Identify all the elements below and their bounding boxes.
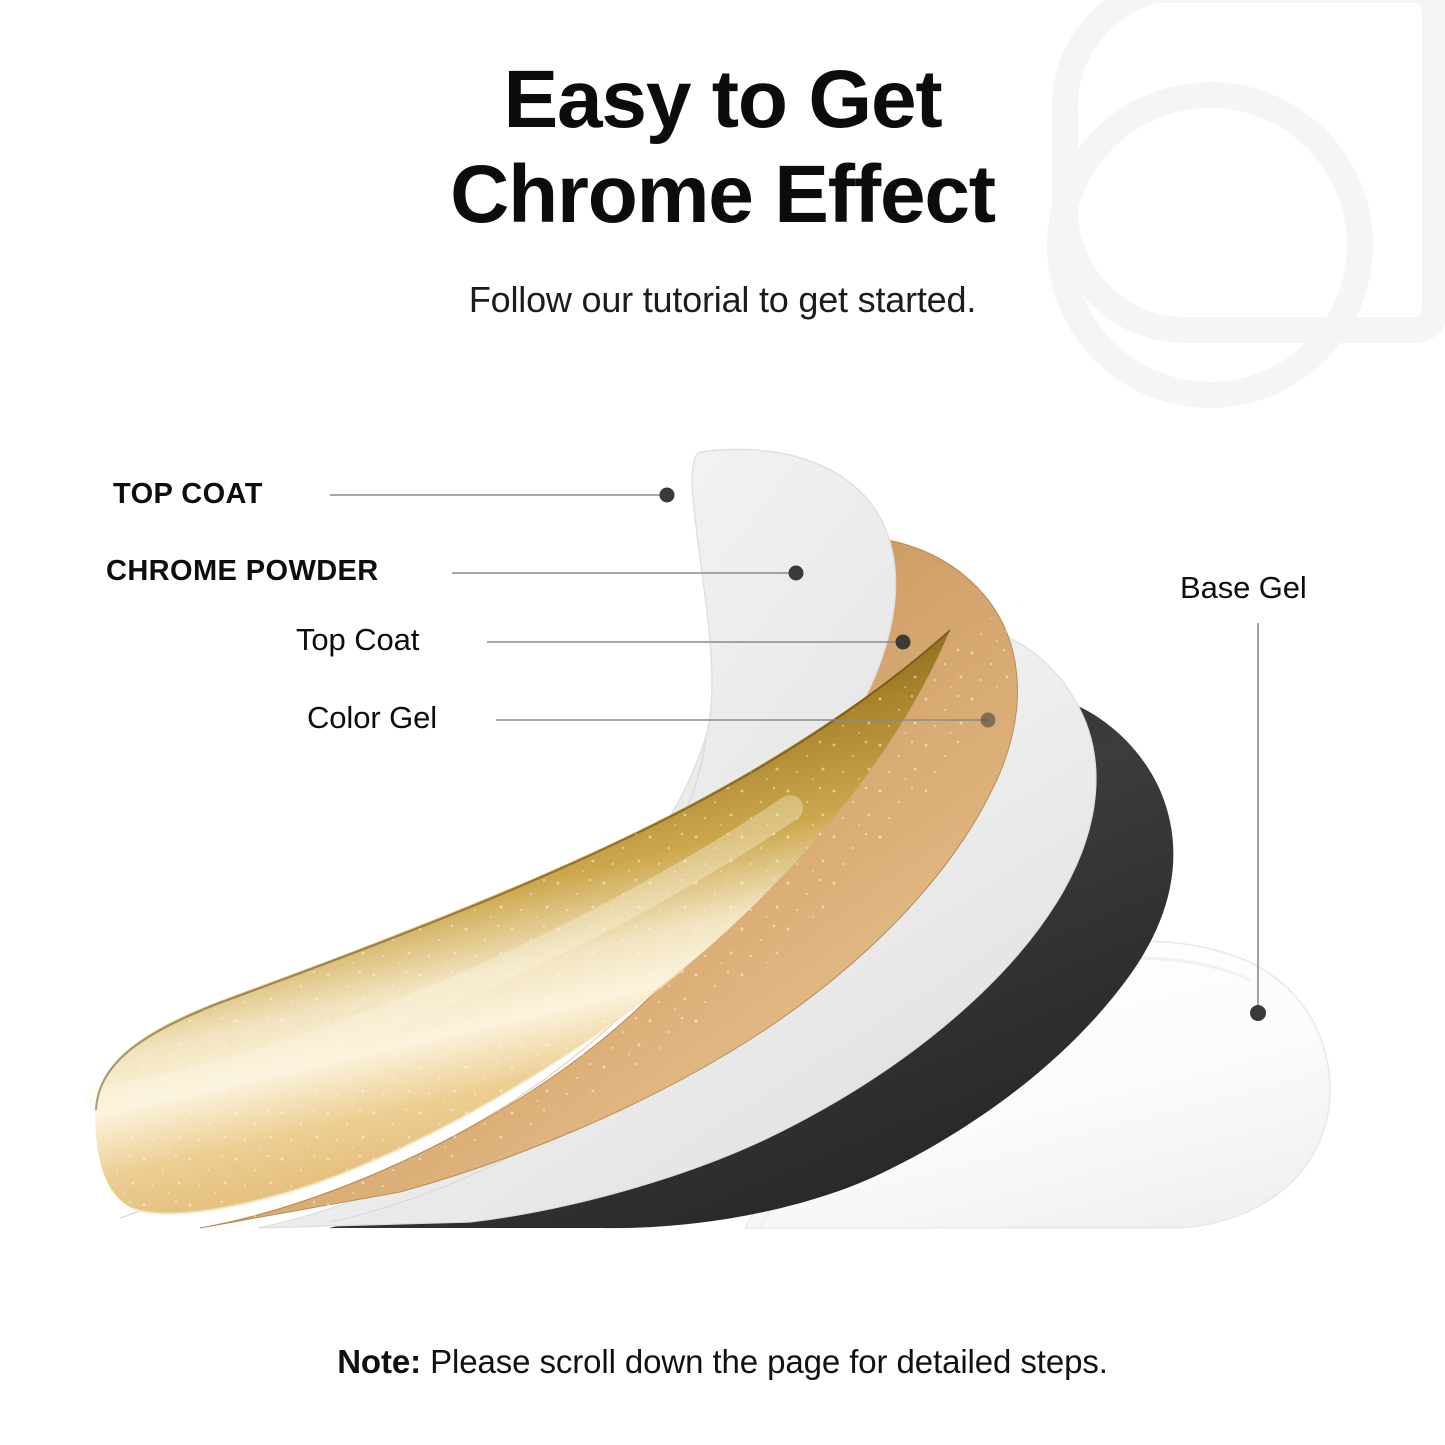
footer-note: Note: Please scroll down the page for de… <box>0 1343 1445 1381</box>
callout-label-top-coat: Top Coat <box>296 622 419 658</box>
callout-label-chrome-powder: CHROME POWDER <box>106 555 379 588</box>
callout-dot-top-coat-bold <box>660 488 675 503</box>
footer-note-text: Please scroll down the page for detailed… <box>421 1343 1108 1380</box>
infographic-page: Easy to Get Chrome Effect Follow our tut… <box>0 0 1445 1445</box>
callout-label-color-gel: Color Gel <box>307 700 437 736</box>
footer-note-prefix: Note: <box>337 1343 421 1380</box>
callout-label-base-gel: Base Gel <box>1180 570 1307 606</box>
layer-diagram <box>0 0 1445 1445</box>
callout-dot-base-gel <box>1250 1005 1266 1021</box>
callout-dot-top-coat <box>896 635 911 650</box>
callout-dot-color-gel <box>981 713 996 728</box>
callout-label-top-coat-bold: TOP COAT <box>113 478 263 511</box>
callout-dot-chrome-powder <box>789 566 804 581</box>
